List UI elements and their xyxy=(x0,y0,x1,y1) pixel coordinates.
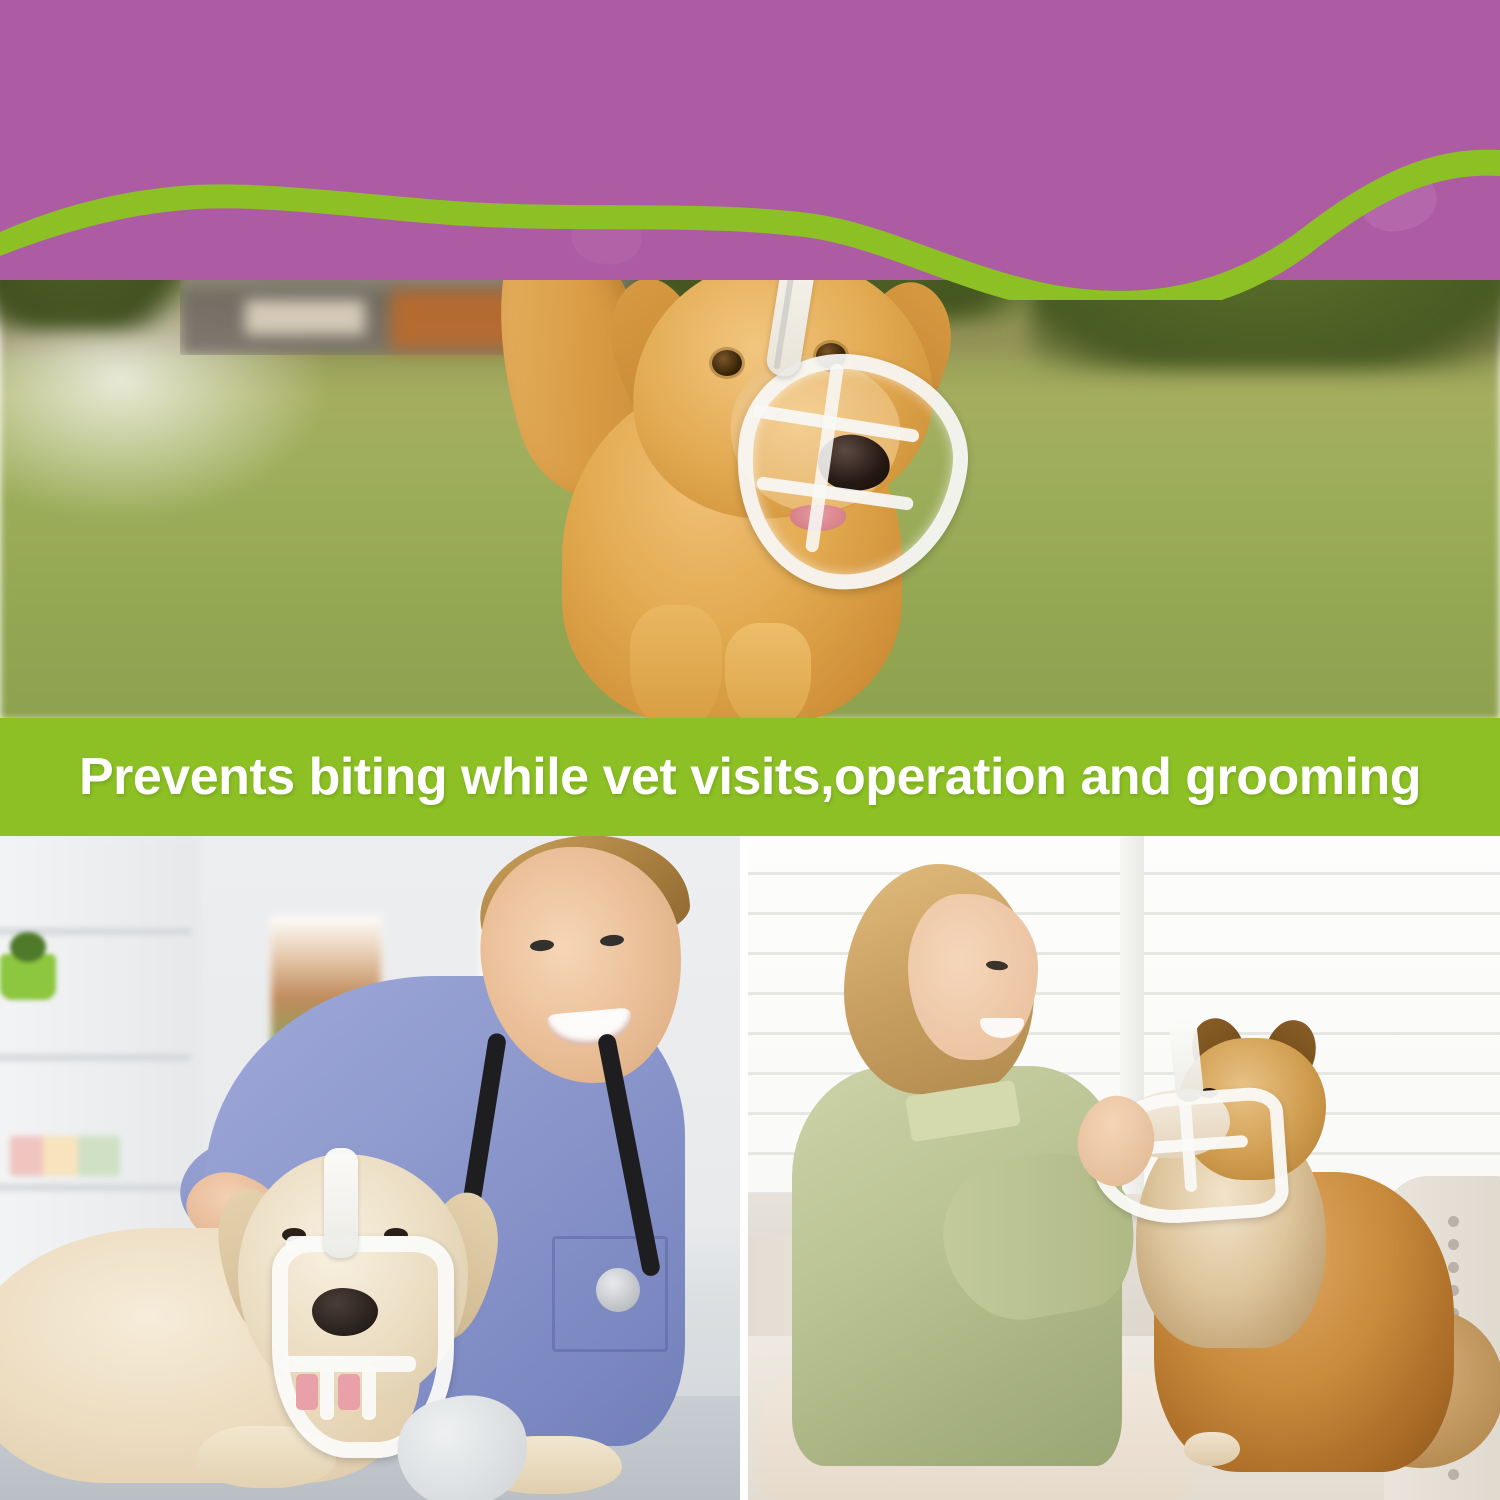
woman-face xyxy=(908,894,1038,1060)
stethoscope-chestpiece xyxy=(596,1268,640,1312)
header-banner: Pet families get along well Lightweight,… xyxy=(0,0,1500,280)
muzzle-clinic-strap-mid xyxy=(280,1356,416,1372)
sheltie-paw xyxy=(1184,1432,1240,1466)
golden-retriever-illustration xyxy=(500,205,1020,720)
dog-front-leg-right xyxy=(725,623,811,720)
muzzle-clinic-bar-1 xyxy=(320,1366,334,1420)
page-title: Pet families get along well xyxy=(0,10,1500,106)
feature-banner: Prevents biting while vet visits,operati… xyxy=(0,718,1500,836)
paw-print-icon xyxy=(555,155,664,273)
dog-eye-left xyxy=(712,350,742,376)
photo-divider xyxy=(740,836,748,1500)
background-window xyxy=(245,300,365,335)
dog-front-leg-left xyxy=(630,605,722,720)
product-infographic-poster: Pet families get along well Lightweight,… xyxy=(0,0,1500,1500)
feature-banner-text: Prevents biting while vet visits,operati… xyxy=(0,718,1500,836)
bottom-photo-row xyxy=(0,836,1500,1500)
paw-print-icon xyxy=(884,145,1006,276)
muzzle-clinic-bar-2 xyxy=(362,1366,376,1420)
muzzle-clinic-head-strap xyxy=(324,1148,358,1258)
photo-vet-clinic xyxy=(0,836,740,1500)
paw-print-icon xyxy=(1113,88,1231,214)
clinic-dog-tongue-right xyxy=(338,1374,360,1410)
page-subtitle: Lightweight, safe, happy interaction eve… xyxy=(0,112,1500,146)
clinic-dog-tongue-left xyxy=(296,1374,318,1410)
photo-home-sofa xyxy=(748,836,1500,1500)
clinic-bottles xyxy=(10,1136,120,1176)
clinic-potted-plant xyxy=(0,954,56,1000)
